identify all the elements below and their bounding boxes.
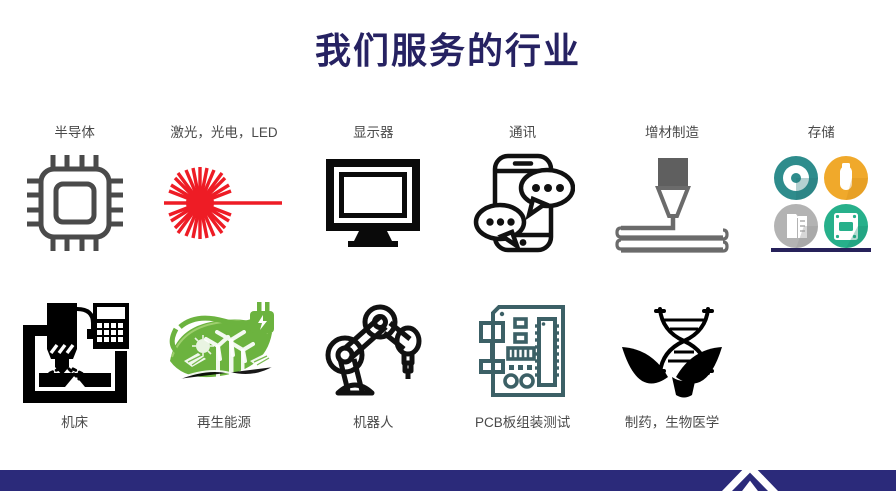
cd-disc-tile (774, 156, 818, 200)
smartphone-chat-icon (467, 150, 579, 256)
storage-media-icon (765, 150, 877, 256)
green-energy-leaf-icon (161, 298, 287, 404)
industry-item-storage[interactable]: 存储 (747, 124, 896, 274)
industry-label: 机床 (61, 414, 88, 432)
industry-label: 增材制造 (645, 124, 699, 142)
industry-label: 机器人 (353, 414, 394, 432)
industry-label: 激光，光电，LED (170, 124, 277, 142)
usb-drive-tile (824, 156, 868, 200)
page-title: 我们服务的行业 (0, 28, 896, 74)
industry-grid: 半导体 (0, 124, 896, 448)
industry-item-communication[interactable]: 通讯 (448, 124, 597, 274)
industry-item-semiconductor[interactable]: 半导体 (0, 124, 149, 274)
industry-item-machine-tool[interactable]: 机床 (0, 298, 149, 448)
industry-label: 显示器 (353, 124, 394, 142)
industry-item-display[interactable]: 显示器 (299, 124, 448, 274)
microchip-icon (19, 150, 131, 256)
3d-printer-icon (609, 150, 735, 256)
robot-arm-icon (317, 298, 429, 404)
industry-label: 再生能源 (197, 414, 251, 432)
dna-leaf-icon (609, 298, 735, 404)
industry-row-2: 机床 (0, 298, 896, 448)
hard-drive-tile (824, 204, 868, 248)
industry-label: PCB板组装测试 (475, 414, 570, 432)
industry-item-laser[interactable]: 激光，光电，LED (149, 124, 298, 274)
slide-root: 我们服务的行业 半导体 (0, 0, 896, 491)
industry-item-robotics[interactable]: 机器人 (299, 298, 448, 448)
laser-beam-icon (161, 150, 287, 256)
industry-item-additive-manufacturing[interactable]: 增材制造 (597, 124, 746, 274)
industry-label: 存储 (808, 124, 835, 142)
industry-label: 通讯 (509, 124, 536, 142)
industry-item-pharma-biomedical[interactable]: 制药，生物医学 (597, 298, 746, 448)
industry-item-pcb-assembly-test[interactable]: PCB板组装测试 (448, 298, 597, 448)
cnc-machine-icon (12, 298, 138, 404)
monitor-display-icon (317, 150, 429, 256)
industry-label: 半导体 (54, 124, 95, 142)
circuit-board-icon (467, 298, 579, 404)
industry-label: 制药，生物医学 (625, 414, 720, 432)
folder-tile (774, 204, 818, 248)
industry-grid-spacer (747, 298, 896, 448)
industry-item-renewable-energy[interactable]: 再生能源 (149, 298, 298, 448)
industry-row-1: 半导体 (0, 124, 896, 274)
